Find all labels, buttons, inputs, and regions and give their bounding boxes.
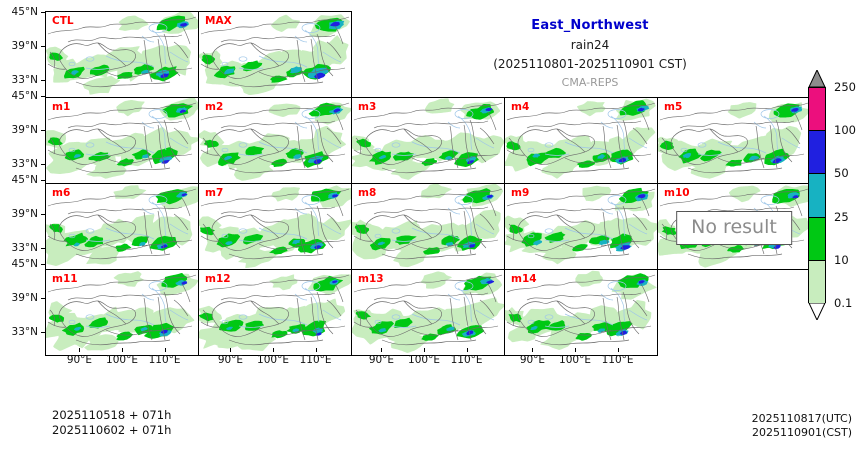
x-tick-mark [122,348,123,352]
x-tick-mark [79,348,80,352]
footer-valid-times: 2025110817(UTC) 2025110901(CST) [752,412,852,440]
footer-init-times: 2025110518 + 071h 2025110602 + 071h [52,408,171,438]
panel-label-m8: m8 [358,187,376,199]
map-panel-m6[interactable]: m6 [45,183,199,270]
x-tick-label: 100°E [408,354,440,366]
panel-label-m6: m6 [52,187,70,199]
colorbar-band-2 [809,174,825,217]
x-tick-mark [424,348,425,352]
footer-valid-cst: 2025110901(CST) [752,426,852,440]
map-panel-m8[interactable]: m8 [351,183,505,270]
map-panel-m12[interactable]: m12 [198,269,352,356]
panel-grid: CTLMAXm1m2m3m4m5m6m7m8m9m10No resultm11m… [46,12,811,356]
y-tick-label: 39°N [12,292,38,304]
x-tick-mark [230,348,231,352]
colorbar-cap-top [806,70,828,87]
colorbar-band-4 [809,261,825,304]
panel-empty [502,11,654,96]
map-panel-m9[interactable]: m9 [504,183,658,270]
x-tick-label: 90°E [520,354,545,366]
panel-label-m9: m9 [511,187,529,199]
colorbar: 2501005025100.1 [806,70,828,320]
map-panel-m4[interactable]: m4 [504,97,658,184]
map-panel-m5[interactable]: m5 [657,97,811,184]
colorbar-band-1 [809,131,825,174]
y-tick-mark [41,164,46,165]
x-tick-mark [381,348,382,352]
colorbar-tick-label: 250 [834,80,856,94]
colorbar-tick-label: 50 [834,166,849,180]
colorbar-band-0 [809,88,825,131]
y-tick-label: 45°N [12,90,38,102]
map-panel-m14[interactable]: m14 [504,269,658,356]
colorbar-tick-label: 100 [834,123,856,137]
x-tick-mark [618,348,619,352]
y-tick-label: 45°N [12,258,38,270]
y-tick-label: 45°N [12,174,38,186]
y-tick-label: 39°N [12,124,38,136]
x-tick-label: 110°E [451,354,483,366]
panel-label-m4: m4 [511,101,529,113]
panel-label-m3: m3 [358,101,376,113]
y-tick-mark [41,248,46,249]
y-tick-label: 39°N [12,40,38,52]
map-panel-m7[interactable]: m7 [198,183,352,270]
x-tick-label: 90°E [218,354,243,366]
colorbar-tick-label: 10 [834,253,849,267]
x-tick-label: 110°E [149,354,181,366]
map-panel-m11[interactable]: m11 [45,269,199,356]
colorbar-bands [808,87,826,303]
panel-label-m7: m7 [205,187,223,199]
map-panel-m3[interactable]: m3 [351,97,505,184]
panel-row: m11m12m13m14 [46,270,811,356]
y-tick-label: 33°N [12,158,38,170]
x-tick-mark [575,348,576,352]
x-tick-label: 100°E [559,354,591,366]
x-tick-label: 100°E [106,354,138,366]
precip-field [658,102,810,179]
map-panel-max[interactable]: MAX [198,11,352,98]
x-tick-mark [165,348,166,352]
y-tick-label: 33°N [12,74,38,86]
panel-empty [653,11,805,96]
y-tick-label: 33°N [12,242,38,254]
y-tick-mark [41,130,46,131]
x-tick-label: 100°E [257,354,289,366]
y-tick-mark [41,80,46,81]
x-tick-label: 110°E [300,354,332,366]
panel-label-m12: m12 [205,273,231,285]
x-tick-mark [467,348,468,352]
x-tick-label: 90°E [67,354,92,366]
y-tick-mark [41,264,46,265]
colorbar-cap-bottom [806,303,828,320]
panel-label-ctl: CTL [52,15,74,27]
map-panel-m1[interactable]: m1 [45,97,199,184]
footer-init-line1: 2025110518 + 071h [52,408,171,423]
x-tick-mark [532,348,533,352]
x-tick-label: 90°E [369,354,394,366]
panel-empty [657,269,809,354]
y-tick-label: 33°N [12,326,38,338]
map-panel-m10[interactable]: m10No result [657,183,811,270]
map-panel-ctl[interactable]: CTL [45,11,199,98]
map-panel-m13[interactable]: m13 [351,269,505,356]
panel-label-m14: m14 [511,273,537,285]
panel-label-m1: m1 [52,101,70,113]
x-tick-mark [273,348,274,352]
panel-label-m5: m5 [664,101,682,113]
y-tick-mark [41,180,46,181]
precip-field [199,274,351,351]
colorbar-band-3 [809,218,825,261]
y-tick-label: 39°N [12,208,38,220]
y-tick-mark [41,298,46,299]
colorbar-tick-label: 0.1 [834,296,852,310]
panel-label-m13: m13 [358,273,384,285]
panel-label-m11: m11 [52,273,78,285]
panel-empty [351,11,503,96]
panel-label-max: MAX [205,15,232,27]
y-tick-mark [41,214,46,215]
panel-row: m6m7m8m9m10No result [46,184,811,270]
panel-row: CTLMAX [46,12,811,98]
x-tick-label: 110°E [602,354,634,366]
y-tick-mark [41,332,46,333]
x-tick-mark [316,348,317,352]
panel-row: m1m2m3m4m5 [46,98,811,184]
footer-valid-utc: 2025110817(UTC) [752,412,852,426]
no-result-message: No result [676,211,792,245]
y-tick-mark [41,96,46,97]
y-tick-mark [41,46,46,47]
panel-label-m10: m10 [664,187,690,199]
footer-init-line2: 2025110602 + 071h [52,423,171,438]
y-tick-label: 45°N [12,6,38,18]
colorbar-tick-label: 25 [834,210,849,224]
panel-label-m2: m2 [205,101,223,113]
y-tick-mark [41,12,46,13]
map-panel-m2[interactable]: m2 [198,97,352,184]
